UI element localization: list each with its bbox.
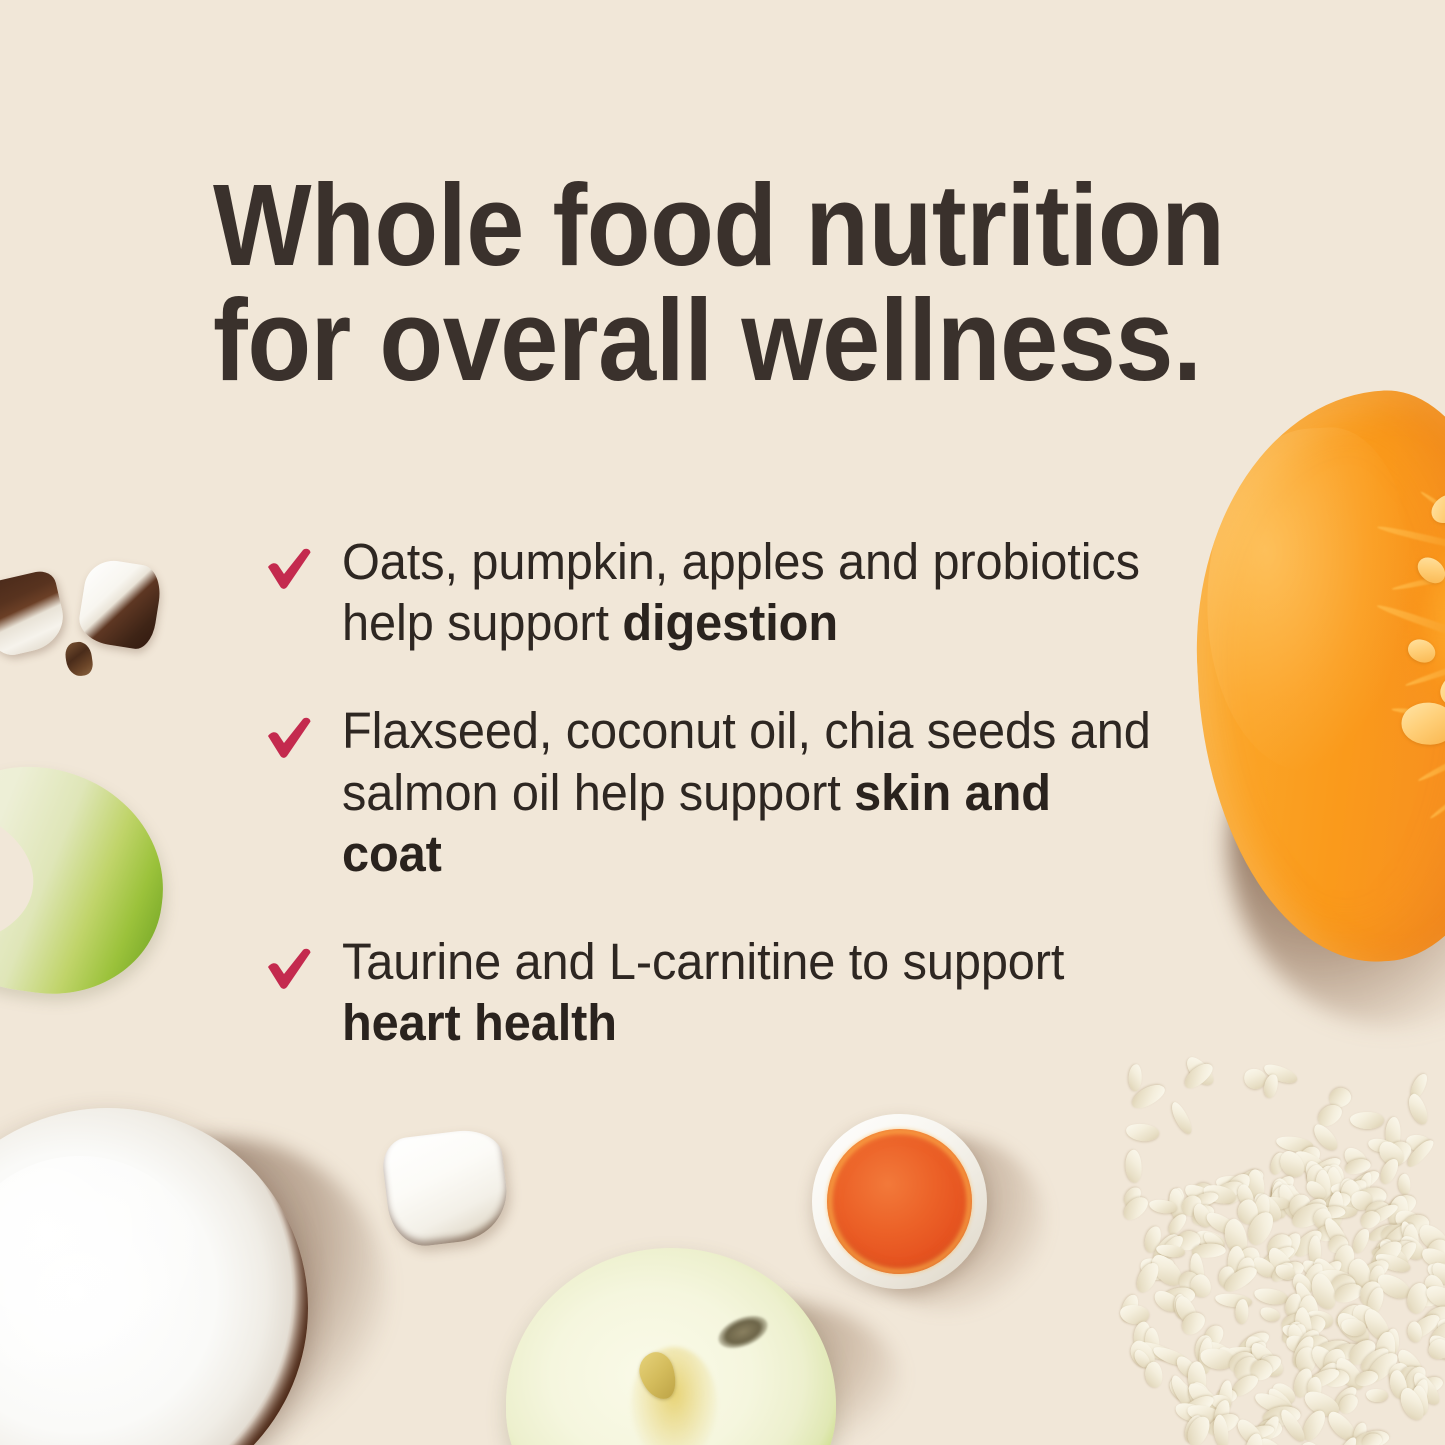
oat-flake bbox=[1366, 1388, 1388, 1403]
list-item-text: Taurine and L-carnitine to support heart… bbox=[342, 931, 1157, 1053]
benefits-list: Oats, pumpkin, apples and probiotics hel… bbox=[265, 531, 1195, 1053]
bullet-1-emphasis: digestion bbox=[622, 594, 838, 651]
product-benefits-graphic: Whole food nutrition for overall wellnes… bbox=[0, 0, 1445, 1445]
green-apple-slice-image bbox=[0, 752, 178, 1009]
salmon-oil-ramekin-image bbox=[812, 1114, 987, 1289]
list-item: Oats, pumpkin, apples and probiotics hel… bbox=[265, 531, 1195, 653]
oat-flake bbox=[1350, 1112, 1384, 1129]
oat-flake bbox=[1398, 1174, 1411, 1195]
coconut-husk-fragment-image bbox=[64, 640, 94, 677]
bullet-3-emphasis: heart health bbox=[342, 994, 617, 1051]
coconut-chunk-image bbox=[0, 568, 70, 660]
list-item-text: Oats, pumpkin, apples and probiotics hel… bbox=[342, 531, 1157, 653]
check-icon bbox=[265, 547, 313, 591]
rolled-oats-image bbox=[1090, 1058, 1445, 1445]
halved-pumpkin-image bbox=[1183, 384, 1445, 970]
oat-flake bbox=[1128, 1064, 1142, 1091]
apple-stem-well bbox=[714, 1309, 773, 1354]
oat-flake bbox=[1258, 1305, 1282, 1324]
headline-line-1: Whole food nutrition bbox=[213, 168, 1176, 283]
list-item-text: Flaxseed, coconut oil, chia seeds and sa… bbox=[342, 700, 1157, 884]
check-icon bbox=[265, 947, 313, 991]
green-apple-half-image bbox=[506, 1248, 836, 1445]
list-item: Taurine and L-carnitine to support heart… bbox=[265, 931, 1195, 1053]
oat-flake bbox=[1168, 1100, 1195, 1136]
coconut-chunk-image bbox=[380, 1126, 513, 1250]
oat-flake bbox=[1144, 1361, 1163, 1388]
check-icon bbox=[265, 716, 313, 760]
oat-flake bbox=[1124, 1149, 1142, 1183]
salmon-oil-liquid bbox=[827, 1129, 972, 1274]
oat-flake bbox=[1125, 1123, 1159, 1143]
headline-line-2: for overall wellness. bbox=[213, 283, 1176, 398]
page-title: Whole food nutrition for overall wellnes… bbox=[213, 168, 1176, 398]
oat-flake bbox=[1253, 1286, 1290, 1307]
bullet-3-normal: Taurine and L-carnitine to support bbox=[342, 933, 1064, 990]
oat-flake bbox=[1405, 1091, 1430, 1127]
oat-flake bbox=[1235, 1299, 1249, 1325]
list-item: Flaxseed, coconut oil, chia seeds and sa… bbox=[265, 700, 1195, 884]
coconut-chunk-image bbox=[76, 557, 164, 652]
